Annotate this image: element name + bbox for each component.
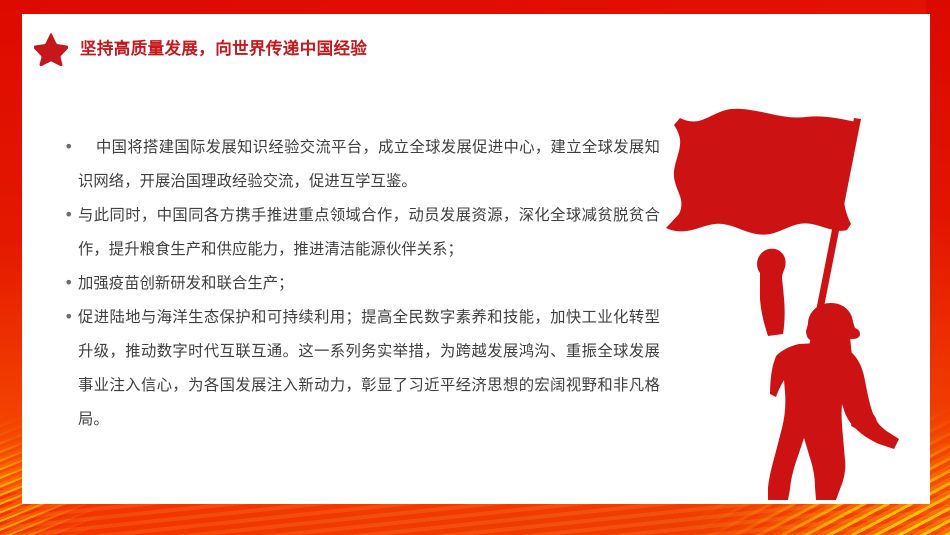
bullet-marker: • [60,266,78,300]
bullet-text: 中国将搭建国际发展知识经验交流平台，成立全球发展促进中心，建立全球发展知识网络，… [78,130,660,198]
bullet-marker: • [60,300,78,334]
list-item: • 加强疫苗创新研发和联合生产； [60,266,660,300]
bullet-text: 与此同时，中国同各方携手推进重点领域合作，动员发展资源，深化全球减贫脱贫合作，提… [78,198,660,266]
bullet-text: 加强疫苗创新研发和联合生产； [78,266,660,300]
list-item: • 与此同时，中国同各方携手推进重点领域合作，动员发展资源，深化全球减贫脱贫合作… [60,198,660,266]
bullet-marker: • [60,198,78,232]
slide-canvas: 坚持高质量发展，向世界传递中国经验 • 中国将搭建国际发展知识经验交流平台，成立… [0,0,950,535]
body-bullet-list: • 中国将搭建国际发展知识经验交流平台，成立全球发展促进中心，建立全球发展知识网… [60,130,660,436]
slide-header: 坚持高质量发展，向世界传递中国经验 [34,32,367,66]
page-title: 坚持高质量发展，向世界传递中国经验 [80,41,367,58]
content-card: 坚持高质量发展，向世界传递中国经验 • 中国将搭建国际发展知识经验交流平台，成立… [22,14,930,504]
flag-bearer-silhouette-icon [658,88,938,500]
bullet-text: 促进陆地与海洋生态保护和可持续利用；提高全民数字素养和技能，加快工业化转型升级，… [78,300,660,436]
bullet-marker: • [60,130,78,164]
star-icon [34,32,68,66]
list-item: • 中国将搭建国际发展知识经验交流平台，成立全球发展促进中心，建立全球发展知识网… [60,130,660,198]
list-item: • 促进陆地与海洋生态保护和可持续利用；提高全民数字素养和技能，加快工业化转型升… [60,300,660,436]
